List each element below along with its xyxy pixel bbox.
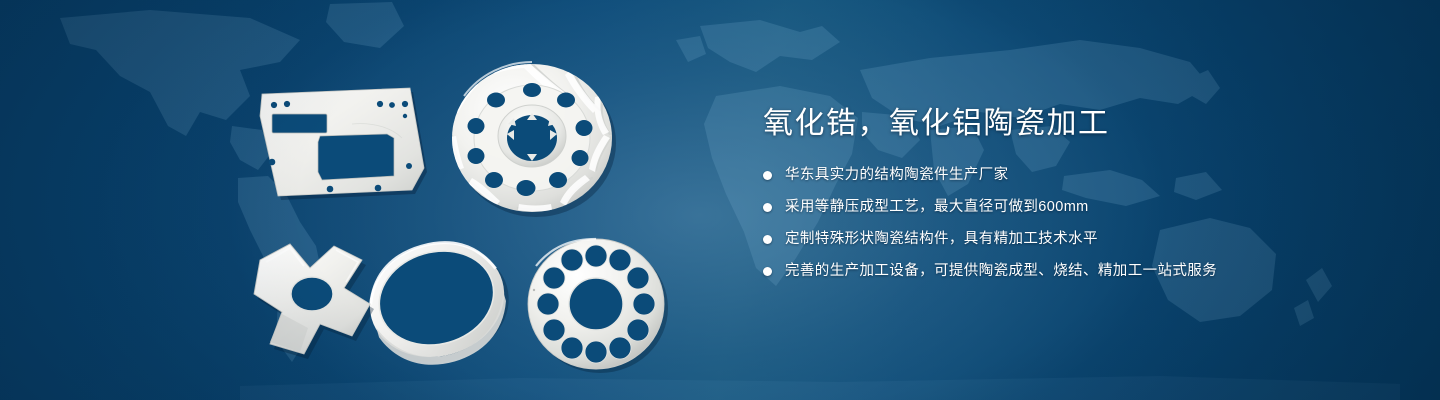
feature-item: 华东具实力的结构陶瓷件生产厂家	[763, 166, 1363, 185]
ceramic-hole-disc	[512, 226, 682, 386]
feature-text: 华东具实力的结构陶瓷件生产厂家	[785, 166, 1009, 185]
bullet-dot-icon	[763, 267, 772, 276]
feature-list: 华东具实力的结构陶瓷件生产厂家 采用等静压成型工艺，最大直径可做到600mm 定…	[763, 166, 1363, 281]
bullet-dot-icon	[763, 235, 772, 244]
bullet-dot-icon	[763, 171, 772, 180]
feature-text: 定制特殊形状陶瓷结构件，具有精加工技术水平	[785, 230, 1098, 249]
ceramic-cross-part	[248, 228, 398, 363]
feature-item: 完善的生产加工设备，可提供陶瓷成型、烧结、精加工一站式服务	[763, 262, 1363, 281]
banner-copy: 氧化锆，氧化铝陶瓷加工 华东具实力的结构陶瓷件生产厂家 采用等静压成型工艺，最大…	[763, 104, 1363, 281]
feature-item: 采用等静压成型工艺，最大直径可做到600mm	[763, 198, 1363, 217]
feature-item: 定制特殊形状陶瓷结构件，具有精加工技术水平	[763, 230, 1363, 249]
bullet-dot-icon	[763, 203, 772, 212]
hero-banner: 氧化锆，氧化铝陶瓷加工 华东具实力的结构陶瓷件生产厂家 采用等静压成型工艺，最大…	[0, 0, 1440, 400]
ceramic-impeller	[440, 50, 625, 225]
feature-text: 完善的生产加工设备，可提供陶瓷成型、烧结、精加工一站式服务	[785, 262, 1217, 281]
banner-title: 氧化锆，氧化铝陶瓷加工	[763, 104, 1363, 144]
ceramic-plate	[252, 72, 432, 202]
feature-text: 采用等静压成型工艺，最大直径可做到600mm	[785, 198, 1089, 217]
product-photo-group	[0, 0, 760, 400]
